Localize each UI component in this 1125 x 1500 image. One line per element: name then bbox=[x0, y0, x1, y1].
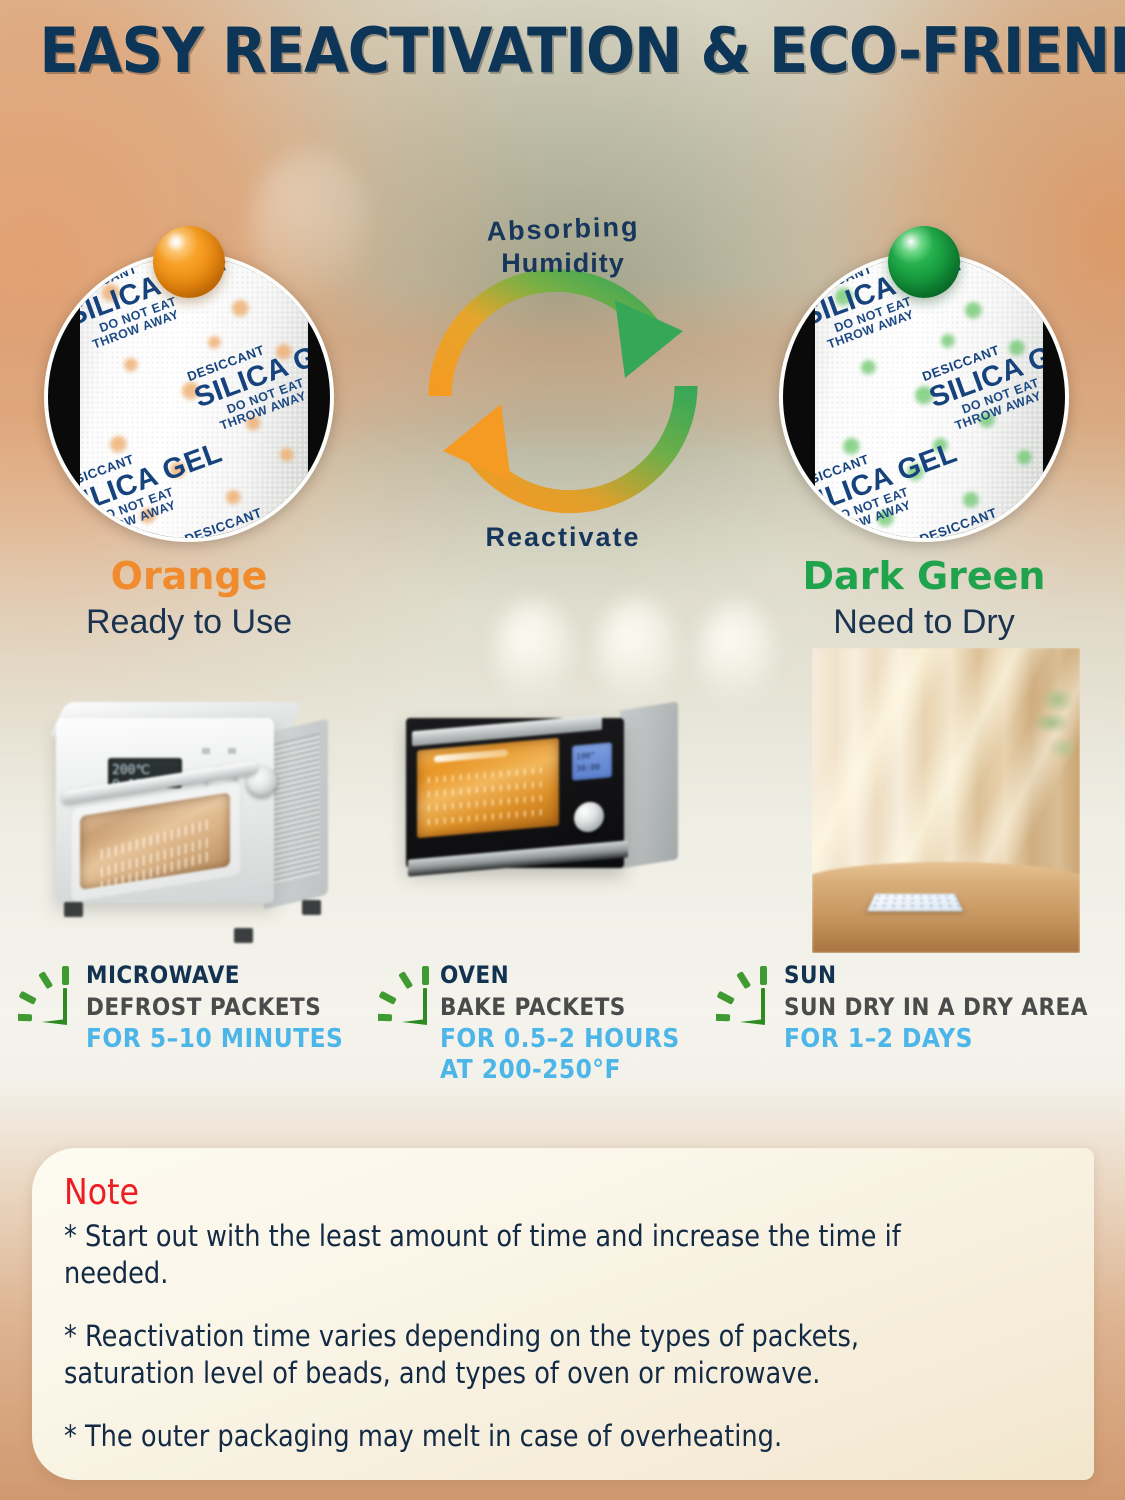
note-body: * Start out with the least amount of tim… bbox=[64, 1218, 949, 1456]
oven-action: BAKE PACKETS bbox=[440, 994, 680, 1021]
note-item-2: * Reactivation time varies depending on … bbox=[64, 1318, 949, 1392]
sun-heading: SUN bbox=[784, 962, 1088, 989]
cycle-label-reactivate: Reactivate bbox=[393, 522, 733, 553]
orange-gel-bead-icon bbox=[153, 226, 225, 298]
infographic-page: EASY REACTIVATION & ECO-FRIENDLY bbox=[0, 0, 1125, 1500]
green-gel-bead-icon bbox=[888, 226, 960, 298]
orange-packet-figure: DESICCANT SILICA GEL DO NOT EAT THROW AW… bbox=[44, 252, 334, 542]
reactivate-arrow bbox=[443, 386, 686, 502]
green-state-status: Need to Dry bbox=[779, 602, 1069, 643]
bokeh-light-1 bbox=[496, 600, 572, 704]
bokeh-light-2 bbox=[598, 598, 676, 706]
orange-state-name: Orange bbox=[44, 556, 334, 598]
sparkle-burst-icon bbox=[18, 964, 82, 1030]
green-state-labels: Dark Green Need to Dry bbox=[779, 556, 1069, 643]
green-state-name: Dark Green bbox=[779, 556, 1069, 598]
wooden-table bbox=[812, 862, 1080, 954]
oven-appliance-photo: 100° 30:00 bbox=[392, 692, 702, 927]
instruction-oven-text: OVEN BAKE PACKETS FOR 0.5–2 HOURS AT 200… bbox=[440, 962, 706, 1086]
instruction-sun-text: SUN SUN DRY IN A DRY AREA FOR 1–2 DAYS bbox=[784, 962, 1122, 1054]
sun-action: SUN DRY IN A DRY AREA bbox=[784, 994, 1088, 1021]
orange-state-labels: Orange Ready to Use bbox=[44, 556, 334, 643]
bokeh-light-3 bbox=[700, 602, 774, 706]
green-packet-figure: DESICCANT SILICA GEL DO NOT EAT THROW AW… bbox=[779, 252, 1069, 542]
orange-state-status: Ready to Use bbox=[44, 602, 334, 643]
oven-glass-window bbox=[417, 738, 559, 838]
cycle-label-humidity: Humidity bbox=[393, 248, 733, 279]
note-item-3: * The outer packaging may melt in case o… bbox=[64, 1418, 949, 1455]
oven-timing-line-1: FOR 0.5–2 HOURS bbox=[440, 1025, 680, 1055]
microwave-timing: FOR 5–10 MINUTES bbox=[86, 1025, 343, 1055]
air-fryer-glass-window bbox=[80, 792, 230, 890]
absorbing-humidity-arrow bbox=[440, 280, 683, 396]
oven-display-time: 30:00 bbox=[576, 761, 600, 775]
microwave-heading: MICROWAVE bbox=[86, 962, 343, 989]
note-title: Note bbox=[64, 1172, 139, 1213]
sun-timing: FOR 1–2 DAYS bbox=[784, 1025, 1088, 1055]
reactivation-cycle-diagram: Absorbing Humidity Reactivate bbox=[393, 200, 733, 580]
oven-heading: OVEN bbox=[440, 962, 680, 989]
oven-timing-line-2: AT 200-250°F bbox=[440, 1056, 680, 1086]
microwave-action: DEFROST PACKETS bbox=[86, 994, 343, 1021]
note-item-1: * Start out with the least amount of tim… bbox=[64, 1218, 949, 1292]
sparkle-burst-icon bbox=[716, 964, 780, 1030]
sunlit-room-scene bbox=[812, 648, 1080, 953]
oven-side-panel bbox=[620, 701, 678, 868]
instruction-microwave-text: MICROWAVE DEFROST PACKETS FOR 5–10 MINUT… bbox=[86, 962, 372, 1054]
title-band: EASY REACTIVATION & ECO-FRIENDLY bbox=[0, 0, 1125, 108]
oven-lcd-display: 100° 30:00 bbox=[572, 742, 612, 780]
sparkle-burst-icon bbox=[378, 964, 442, 1030]
plant-decoration bbox=[1016, 679, 1075, 795]
sun-drying-photo bbox=[812, 648, 1080, 953]
page-title: EASY REACTIVATION & ECO-FRIENDLY bbox=[39, 14, 1085, 87]
microwave-appliance-photo: 200℃ 0:15 bbox=[18, 690, 358, 965]
oven-display-values: 100° 30:00 bbox=[576, 749, 600, 775]
note-box: Note * Start out with the least amount o… bbox=[32, 1148, 1094, 1480]
air-fryer-vents bbox=[274, 733, 320, 884]
